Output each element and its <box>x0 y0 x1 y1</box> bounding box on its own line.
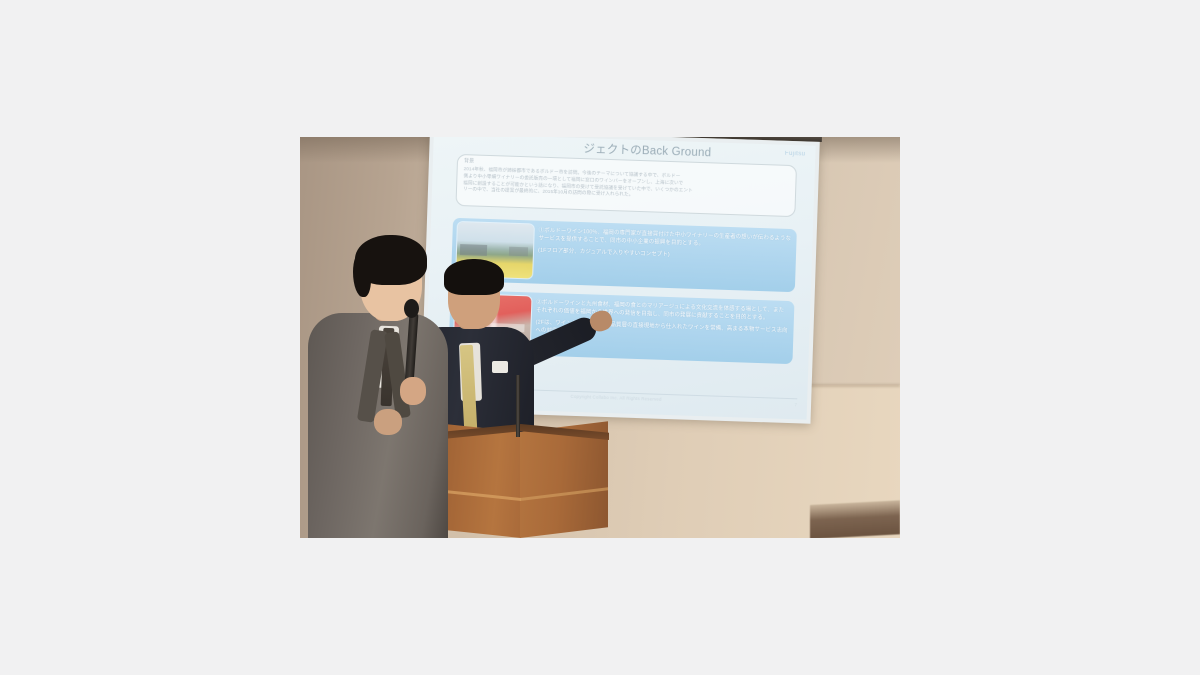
background-note-box: 背景 2014年秋、福岡市が姉妹都市であるボルドー市を訪問。今後のテーマについて… <box>455 154 797 217</box>
speaker-with-microphone <box>308 237 448 538</box>
conference-presentation-photo: ジェクトのBack Ground Fujitsu 背景 2014年秋、福岡市が姉… <box>300 137 900 538</box>
speaker-a-hand-holding-mic <box>400 377 426 405</box>
speaker-a-other-hand <box>374 409 402 435</box>
company-logo: Fujitsu <box>785 151 806 158</box>
slide-title: ジェクトのBack Ground <box>583 140 711 160</box>
concept-box-1-text: ①ボルドーワイン100%、福岡の専門家が直接買付けた中小ワイナリーの生産者の想い… <box>537 225 792 288</box>
wooden-podium <box>433 424 608 538</box>
microphone-icon <box>404 299 419 318</box>
speaker-a-sideburn <box>353 251 371 297</box>
microphone-stand <box>516 375 520 437</box>
podium-right-face <box>520 421 608 538</box>
speaker-b-name-badge <box>492 361 508 373</box>
speaker-b-hair <box>444 259 504 295</box>
floor-baseboard <box>810 500 900 538</box>
page-root: ジェクトのBack Ground Fujitsu 背景 2014年秋、福岡市が姉… <box>0 0 1200 675</box>
slide-page-number: 7 <box>795 402 798 407</box>
